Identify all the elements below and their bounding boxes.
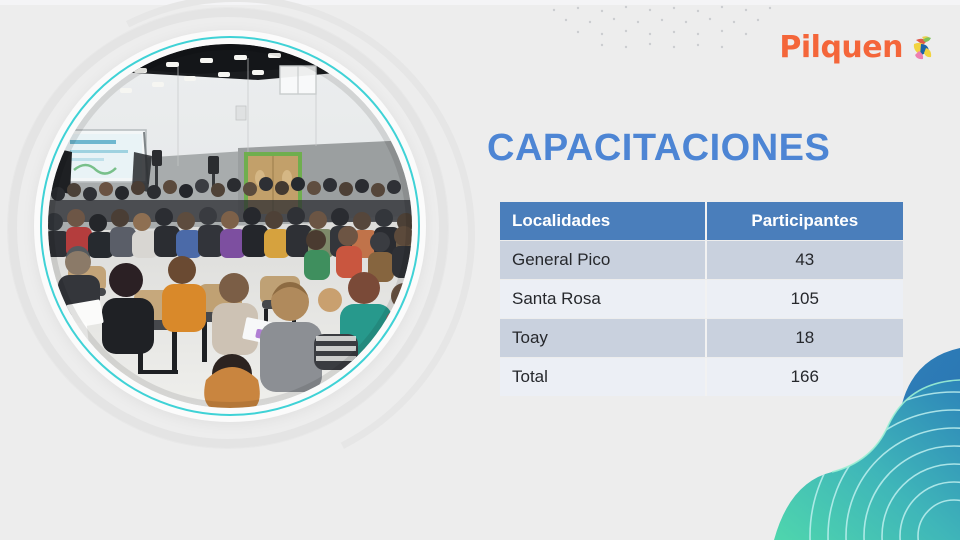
table-body: General Pico 43 Santa Rosa 105 Toay 18 T… <box>500 241 903 396</box>
cell-participantes: 18 <box>707 319 903 357</box>
column-header-localidades: Localidades <box>500 202 707 240</box>
page-title: CAPACITACIONES <box>487 127 830 170</box>
bird-logo-icon <box>910 34 936 62</box>
table-header-row: Localidades Participantes <box>500 202 903 240</box>
table-row: Toay 18 <box>500 319 903 357</box>
photo-illustration <box>48 44 412 408</box>
cell-localidad: Total <box>500 358 707 396</box>
participants-table: Localidades Participantes General Pico 4… <box>500 201 903 397</box>
brand-name: Pilquen <box>779 33 903 63</box>
cell-participantes: 105 <box>707 280 903 318</box>
dot-pattern-decoration <box>548 4 778 56</box>
top-strip <box>0 0 960 5</box>
cell-localidad: Santa Rosa <box>500 280 707 318</box>
cell-localidad: General Pico <box>500 241 707 279</box>
participants-table-container: Localidades Participantes General Pico 4… <box>500 201 903 397</box>
training-session-photo <box>48 44 412 408</box>
table-head: Localidades Participantes <box>500 202 903 240</box>
slide-canvas: Pilquen CAPACITACIONES Localidades Parti… <box>0 0 960 540</box>
brand-logo: Pilquen <box>779 33 936 63</box>
table-row-total: Total 166 <box>500 358 903 396</box>
table-row: General Pico 43 <box>500 241 903 279</box>
table-row: Santa Rosa 105 <box>500 280 903 318</box>
column-header-participantes: Participantes <box>707 202 903 240</box>
cell-participantes: 166 <box>707 358 903 396</box>
cell-localidad: Toay <box>500 319 707 357</box>
cell-participantes: 43 <box>707 241 903 279</box>
